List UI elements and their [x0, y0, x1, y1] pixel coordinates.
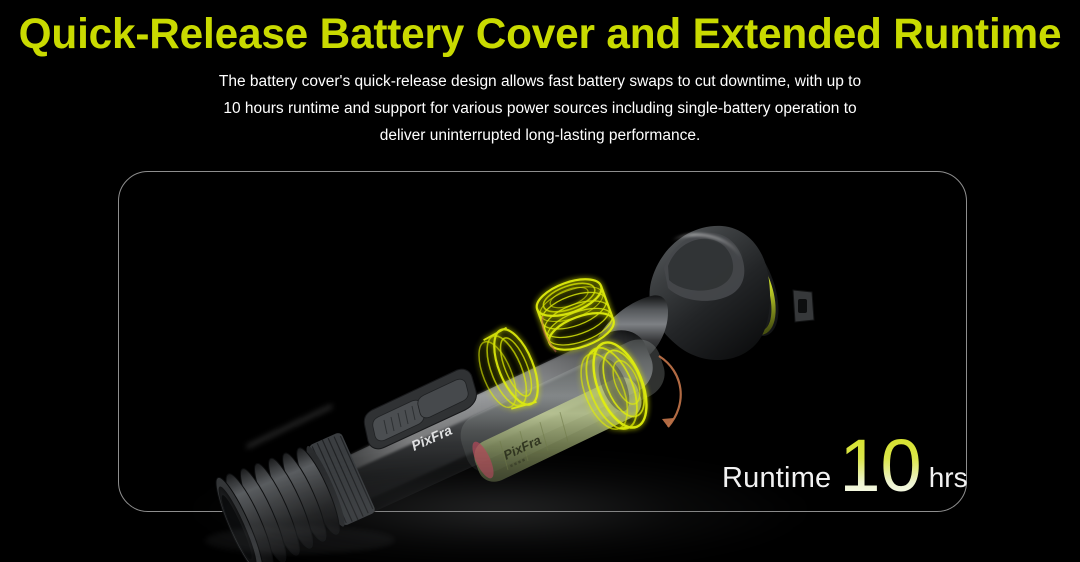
runtime-unit: hrs	[929, 462, 968, 494]
runtime-label: Runtime	[722, 462, 831, 495]
quick-release-latch	[793, 290, 814, 322]
runtime-value: 10	[839, 436, 921, 495]
runtime-badge: Runtime 10 hrs	[722, 432, 968, 495]
promo-page: Quick-Release Battery Cover and Extended…	[0, 0, 1080, 562]
floor-glow	[190, 455, 810, 562]
